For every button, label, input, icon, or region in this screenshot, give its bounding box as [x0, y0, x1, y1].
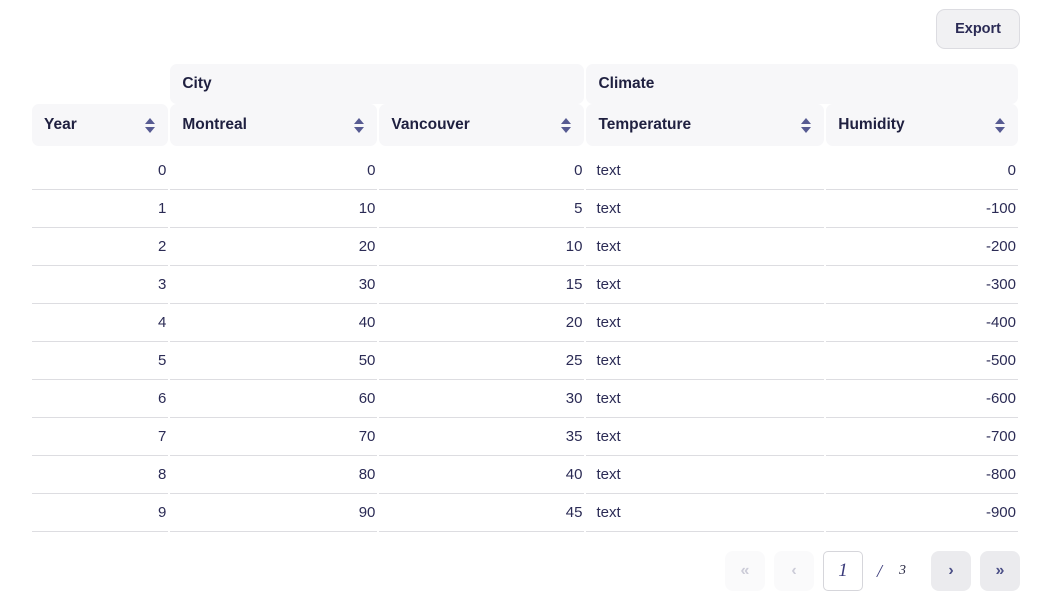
table-row: 44020text-400 [32, 304, 1018, 342]
cell-montreal: 30 [170, 266, 377, 304]
cell-humidity: -900 [826, 494, 1018, 532]
cell-montreal: 10 [170, 190, 377, 228]
column-header-row: YearMontrealVancouverTemperatureHumidity [32, 104, 1018, 146]
cell-year: 7 [32, 418, 168, 456]
cell-vancouver: 35 [379, 418, 584, 456]
next-page-button[interactable]: › [931, 551, 971, 591]
column-header-vancouver[interactable]: Vancouver [379, 104, 584, 146]
sort-icon[interactable] [354, 118, 365, 133]
cell-temperature: text [586, 418, 824, 456]
cell-montreal: 50 [170, 342, 377, 380]
group-header-climate: Climate [586, 64, 1018, 104]
cell-humidity: -500 [826, 342, 1018, 380]
column-header-year[interactable]: Year [32, 104, 168, 146]
table-head: CityClimate YearMontrealVancouverTempera… [32, 64, 1018, 152]
sort-icon[interactable] [995, 118, 1006, 133]
previous-page-button[interactable]: ‹ [774, 551, 814, 591]
cell-temperature: text [586, 456, 824, 494]
column-header-humidity[interactable]: Humidity [826, 104, 1018, 146]
sort-icon[interactable] [801, 118, 812, 133]
page-separator: / [877, 561, 882, 582]
table-row: 1105text-100 [32, 190, 1018, 228]
table-row: 99045text-900 [32, 494, 1018, 532]
cell-year: 3 [32, 266, 168, 304]
cell-humidity: -400 [826, 304, 1018, 342]
data-table-container: CityClimate YearMontrealVancouverTempera… [30, 64, 1020, 532]
pagination: « ‹ / 3 › » [0, 549, 1038, 593]
cell-temperature: text [586, 152, 824, 190]
column-header-label: Year [44, 116, 77, 134]
cell-temperature: text [586, 190, 824, 228]
cell-montreal: 60 [170, 380, 377, 418]
cell-montreal: 40 [170, 304, 377, 342]
cell-temperature: text [586, 494, 824, 532]
cell-humidity: -100 [826, 190, 1018, 228]
cell-year: 6 [32, 380, 168, 418]
column-header-label: Vancouver [391, 116, 469, 134]
cell-vancouver: 45 [379, 494, 584, 532]
cell-year: 8 [32, 456, 168, 494]
data-table: CityClimate YearMontrealVancouverTempera… [30, 64, 1020, 532]
cell-humidity: 0 [826, 152, 1018, 190]
cell-vancouver: 0 [379, 152, 584, 190]
group-header-row: CityClimate [32, 64, 1018, 104]
table-row: 000text0 [32, 152, 1018, 190]
cell-montreal: 80 [170, 456, 377, 494]
table-row: 77035text-700 [32, 418, 1018, 456]
column-header-temperature[interactable]: Temperature [586, 104, 824, 146]
table-page: Export CityClimate YearMontrealVancouver… [0, 0, 1038, 597]
cell-humidity: -700 [826, 418, 1018, 456]
table-row: 22010text-200 [32, 228, 1018, 266]
cell-vancouver: 30 [379, 380, 584, 418]
cell-humidity: -200 [826, 228, 1018, 266]
cell-year: 0 [32, 152, 168, 190]
cell-montreal: 90 [170, 494, 377, 532]
column-header-label: Montreal [182, 116, 247, 134]
cell-temperature: text [586, 304, 824, 342]
cell-vancouver: 20 [379, 304, 584, 342]
table-row: 66030text-600 [32, 380, 1018, 418]
cell-vancouver: 10 [379, 228, 584, 266]
group-header-city: City [170, 64, 584, 104]
page-number-input[interactable] [823, 551, 863, 591]
cell-temperature: text [586, 342, 824, 380]
table-row: 55025text-500 [32, 342, 1018, 380]
cell-year: 4 [32, 304, 168, 342]
cell-vancouver: 25 [379, 342, 584, 380]
cell-year: 9 [32, 494, 168, 532]
table-row: 88040text-800 [32, 456, 1018, 494]
cell-vancouver: 5 [379, 190, 584, 228]
cell-year: 5 [32, 342, 168, 380]
toolbar: Export [0, 9, 1038, 51]
cell-year: 2 [32, 228, 168, 266]
cell-vancouver: 15 [379, 266, 584, 304]
column-header-montreal[interactable]: Montreal [170, 104, 377, 146]
last-page-button[interactable]: » [980, 551, 1020, 591]
cell-year: 1 [32, 190, 168, 228]
sort-icon[interactable] [561, 118, 572, 133]
sort-icon[interactable] [145, 118, 156, 133]
cell-humidity: -800 [826, 456, 1018, 494]
table-body: 000text01105text-10022010text-20033015te… [32, 152, 1018, 532]
cell-montreal: 70 [170, 418, 377, 456]
cell-temperature: text [586, 228, 824, 266]
first-page-button[interactable]: « [725, 551, 765, 591]
cell-temperature: text [586, 380, 824, 418]
cell-temperature: text [586, 266, 824, 304]
group-header-empty [32, 64, 168, 104]
table-row: 33015text-300 [32, 266, 1018, 304]
cell-montreal: 20 [170, 228, 377, 266]
cell-vancouver: 40 [379, 456, 584, 494]
cell-humidity: -600 [826, 380, 1018, 418]
total-pages-label: 3 [899, 563, 906, 579]
cell-humidity: -300 [826, 266, 1018, 304]
column-header-label: Humidity [838, 116, 904, 134]
export-button[interactable]: Export [936, 9, 1020, 49]
cell-montreal: 0 [170, 152, 377, 190]
column-header-label: Temperature [598, 116, 691, 134]
